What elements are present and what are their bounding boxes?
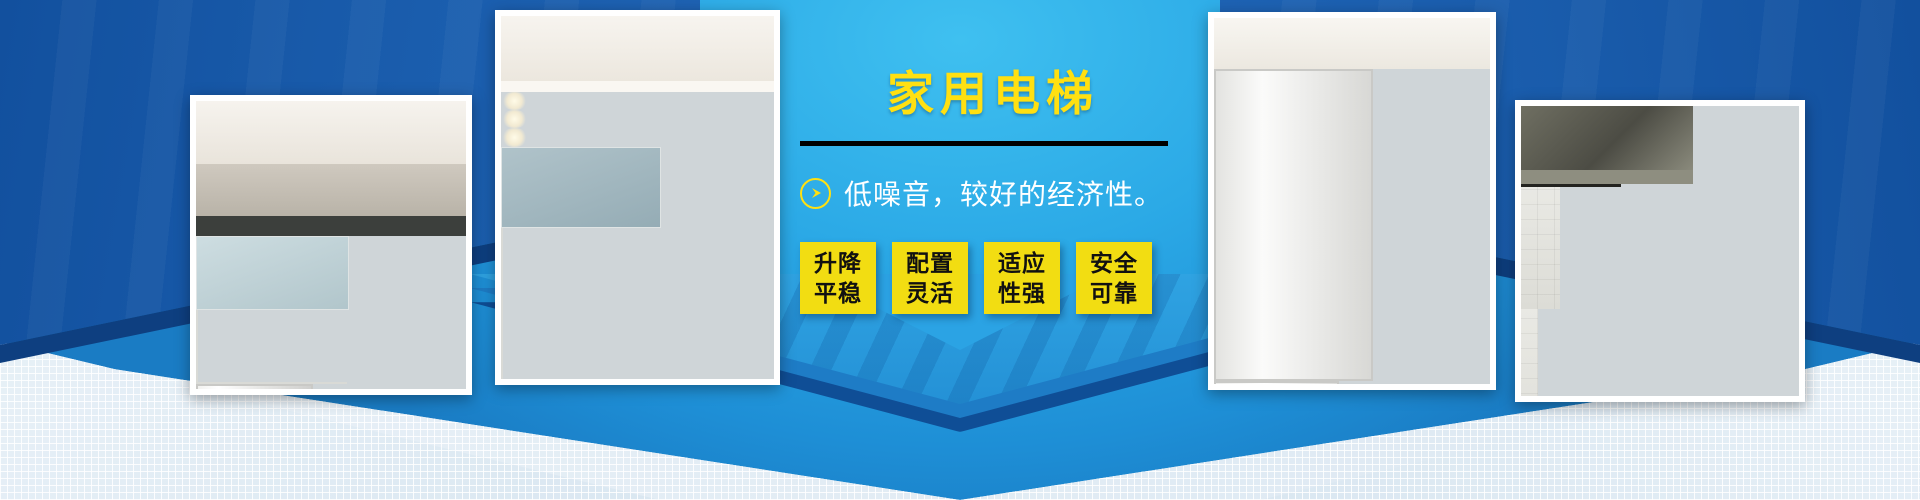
photo-image-3 <box>1214 18 1490 384</box>
photo-card-1 <box>190 95 472 395</box>
feature-tag-4-line2: 可靠 <box>1090 278 1138 308</box>
title-divider <box>800 141 1168 146</box>
promo-banner: 家用电梯 低噪音，较好的经济性。 升降 平稳 配置 灵活 适应 性强 <box>0 0 1920 500</box>
feature-tag-2-line2: 灵活 <box>906 278 954 308</box>
feature-tag-2-line1: 配置 <box>906 248 954 278</box>
photo-image-1 <box>196 101 466 389</box>
page-title: 家用电梯 <box>800 70 1180 117</box>
feature-tag-1-line1: 升降 <box>814 248 862 278</box>
feature-tag-3-line2: 性强 <box>998 278 1046 308</box>
feature-tag-3-line1: 适应 <box>998 248 1046 278</box>
photo-image-2 <box>501 16 774 379</box>
feature-tag-2[interactable]: 配置 灵活 <box>892 242 968 314</box>
feature-tag-1[interactable]: 升降 平稳 <box>800 242 876 314</box>
feature-tag-3[interactable]: 适应 性强 <box>984 242 1060 314</box>
feature-tag-1-line2: 平稳 <box>814 278 862 308</box>
tagline-row: 低噪音，较好的经济性。 <box>800 173 1180 213</box>
photo-image-4 <box>1521 106 1799 396</box>
photo-card-2 <box>495 10 780 385</box>
photo-card-4 <box>1515 100 1805 402</box>
feature-tag-list: 升降 平稳 配置 灵活 适应 性强 安全 可靠 <box>800 242 1180 314</box>
photo-card-3 <box>1208 12 1496 390</box>
feature-tag-4-line1: 安全 <box>1090 248 1138 278</box>
feature-tag-4[interactable]: 安全 可靠 <box>1076 242 1152 314</box>
banner-text-block: 家用电梯 低噪音，较好的经济性。 升降 平稳 配置 灵活 适应 性强 <box>800 70 1180 314</box>
tagline-text: 低噪音，较好的经济性。 <box>844 173 1163 213</box>
circle-arrow-right-icon <box>800 178 831 209</box>
